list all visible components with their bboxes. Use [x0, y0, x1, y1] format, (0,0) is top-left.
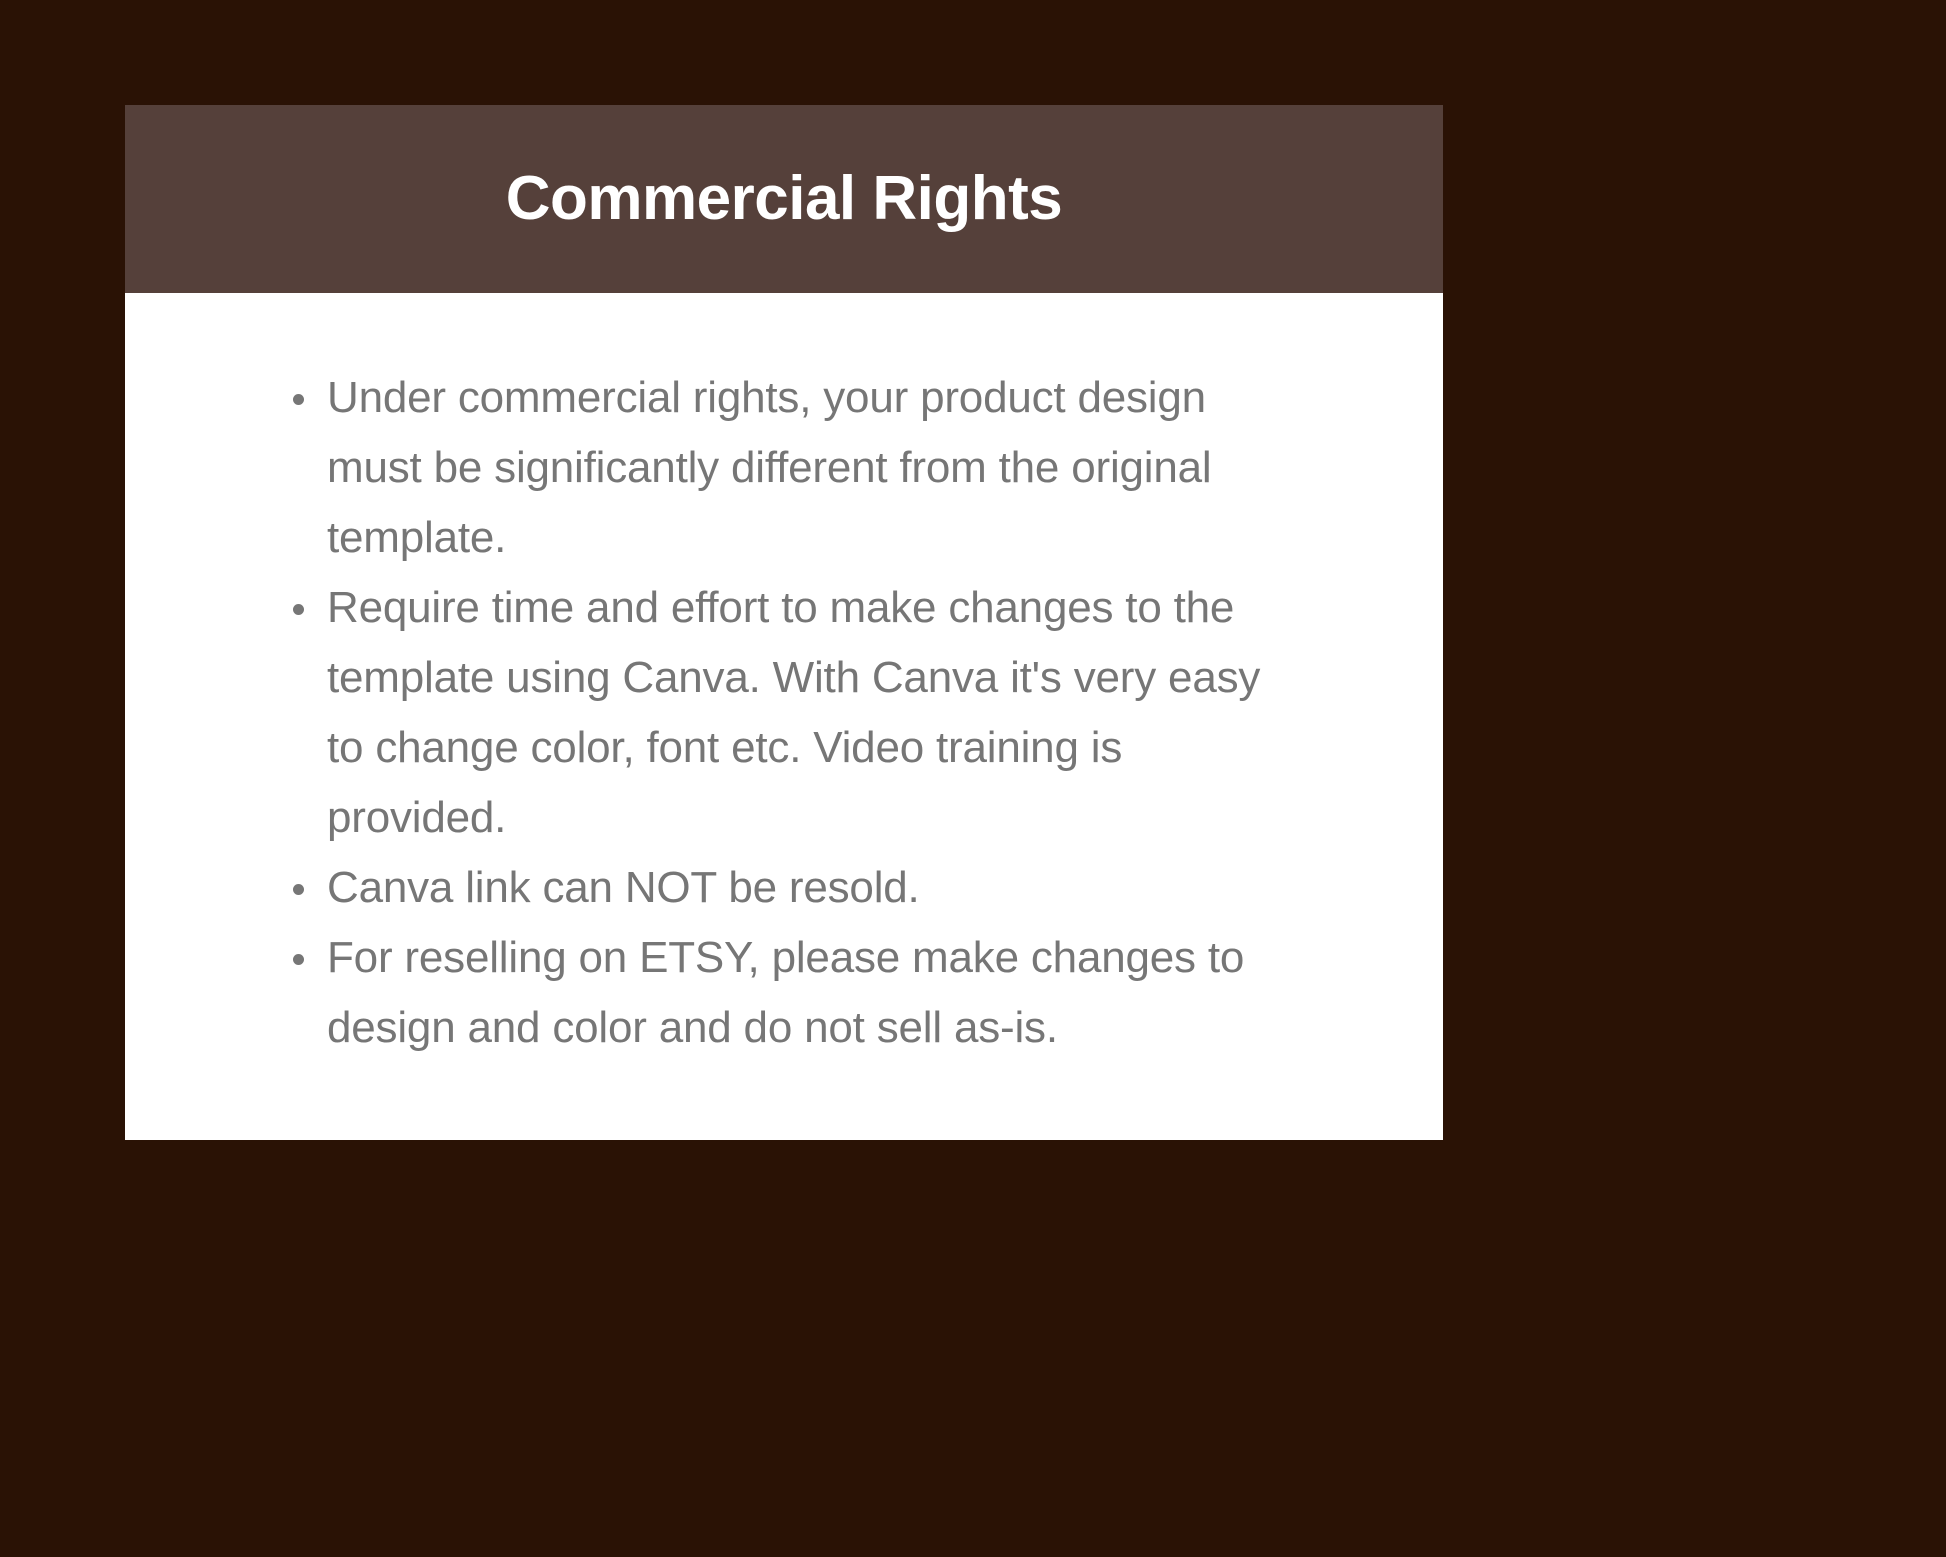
list-item: Canva link can NOT be resold.: [327, 853, 1287, 923]
card-header-bar: Commercial Rights: [125, 105, 1443, 293]
list-item: Require time and effort to make changes …: [327, 573, 1287, 853]
page-title: Commercial Rights: [506, 168, 1063, 230]
slide-canvas: Commercial Rights Under commercial right…: [0, 0, 1946, 1557]
commercial-rights-card: Commercial Rights Under commercial right…: [125, 105, 1443, 1140]
card-body: Under commercial rights, your product de…: [125, 293, 1443, 1063]
list-item: For reselling on ETSY, please make chang…: [327, 923, 1287, 1063]
bullet-list: Under commercial rights, your product de…: [285, 363, 1383, 1063]
list-item: Under commercial rights, your product de…: [327, 363, 1287, 573]
